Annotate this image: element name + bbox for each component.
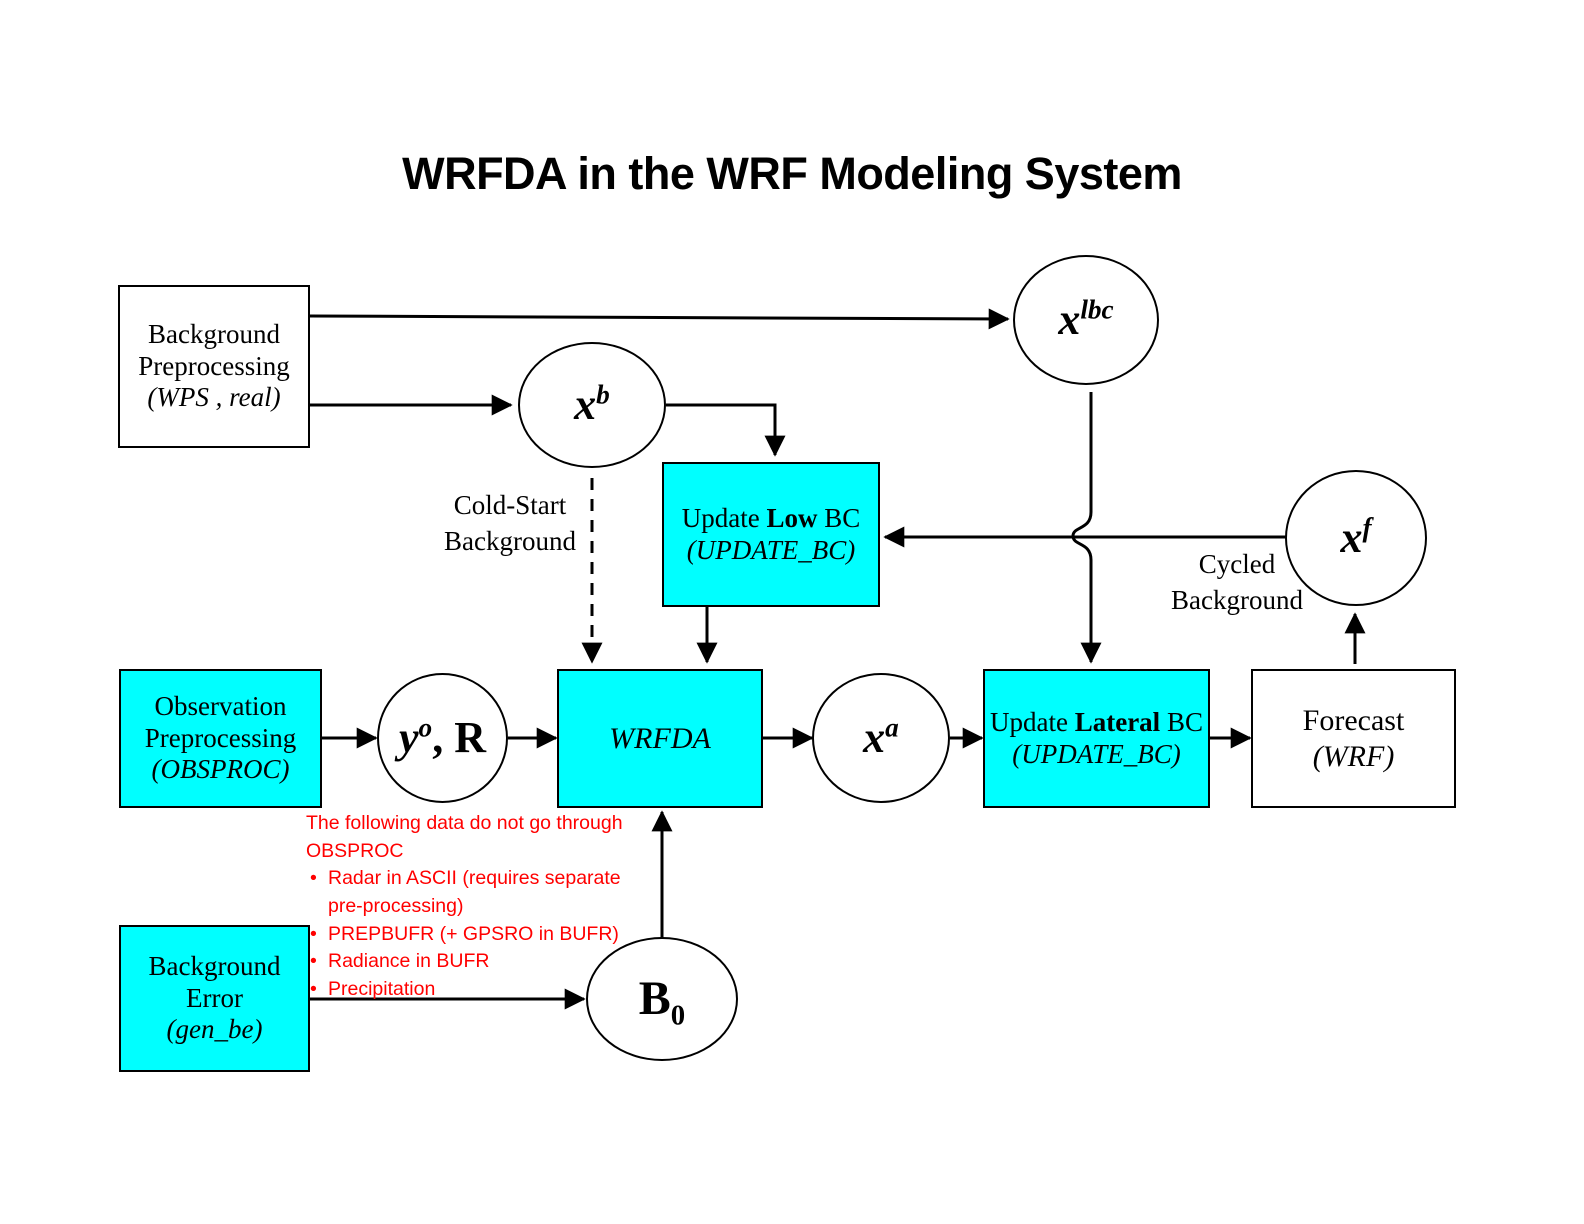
edge-bgpre-to-xlbc <box>310 316 1008 319</box>
label-cycled-background: Cycled Background <box>1163 546 1311 619</box>
note-heading-line-1: The following data do not go through <box>306 810 656 838</box>
yo-r-label: yo, R <box>399 716 486 760</box>
bgerror-line-2: Error <box>186 983 243 1015</box>
update-lateral-line-1: Update Lateral BC <box>990 707 1203 739</box>
x-f-label: xf <box>1340 516 1371 560</box>
cold-start-line-2: Background <box>440 523 580 559</box>
edge-xb-to-updatelow <box>666 405 775 455</box>
page-title: WRFDA in the WRF Modeling System <box>0 148 1584 200</box>
note-bullet-item: PREPBUFR (+ GPSRO in BUFR) <box>328 921 648 949</box>
cycled-line-2: Background <box>1163 582 1311 618</box>
cycled-line-1: Cycled <box>1163 546 1311 582</box>
obs-line-2: Preprocessing <box>145 723 296 755</box>
node-background-error[interactable]: Background Error (gen_be) <box>119 925 310 1072</box>
node-background-preprocessing[interactable]: Background Preprocessing (WPS , real) <box>118 285 310 448</box>
node-line-3: (WPS , real) <box>147 382 280 414</box>
node-update-low-bc[interactable]: Update Low BC (UPDATE_BC) <box>662 462 880 607</box>
node-forecast[interactable]: Forecast (WRF) <box>1251 669 1456 808</box>
bgerror-line-3: (gen_be) <box>167 1014 263 1046</box>
update-low-line-1: Update Low BC <box>682 503 861 535</box>
wrfda-label: WRFDA <box>609 721 711 756</box>
x-a-label: xa <box>863 716 899 760</box>
node-yo-r[interactable]: yo, R <box>377 673 508 803</box>
obs-line-3: (OBSPROC) <box>152 754 290 786</box>
node-x-a[interactable]: xa <box>812 673 950 803</box>
node-wrfda[interactable]: WRFDA <box>557 669 763 808</box>
note-bullet-item: Radar in ASCII (requires separate pre-pr… <box>328 865 636 920</box>
label-cold-start-background: Cold-Start Background <box>440 487 580 560</box>
node-b0[interactable]: B0 <box>586 937 738 1061</box>
diagram-canvas: WRFDA (cold start) --> WRFDA in the WRF … <box>0 0 1584 1224</box>
forecast-line-2: (WRF) <box>1313 739 1395 774</box>
bgerror-line-1: Background <box>149 951 281 983</box>
x-b-label: xb <box>574 383 610 427</box>
note-heading-line-2: OBSPROC <box>306 838 656 866</box>
node-update-lateral-bc[interactable]: Update Lateral BC (UPDATE_BC) <box>983 669 1210 808</box>
edge-xlbc-to-updatelateral <box>1073 392 1091 662</box>
node-x-lbc[interactable]: xlbc <box>1013 255 1159 385</box>
update-lateral-line-2: (UPDATE_BC) <box>1012 739 1180 771</box>
node-observation-preprocessing[interactable]: Observation Preprocessing (OBSPROC) <box>119 669 322 808</box>
x-lbc-label: xlbc <box>1058 298 1113 342</box>
node-x-b[interactable]: xb <box>518 342 666 468</box>
cold-start-line-1: Cold-Start <box>440 487 580 523</box>
node-line-2: Preprocessing <box>138 351 289 383</box>
forecast-line-1: Forecast <box>1303 703 1405 738</box>
b0-label: B0 <box>639 975 685 1023</box>
node-line-1: Background <box>148 319 280 351</box>
obs-line-1: Observation <box>155 691 287 723</box>
update-low-line-2: (UPDATE_BC) <box>687 535 855 567</box>
